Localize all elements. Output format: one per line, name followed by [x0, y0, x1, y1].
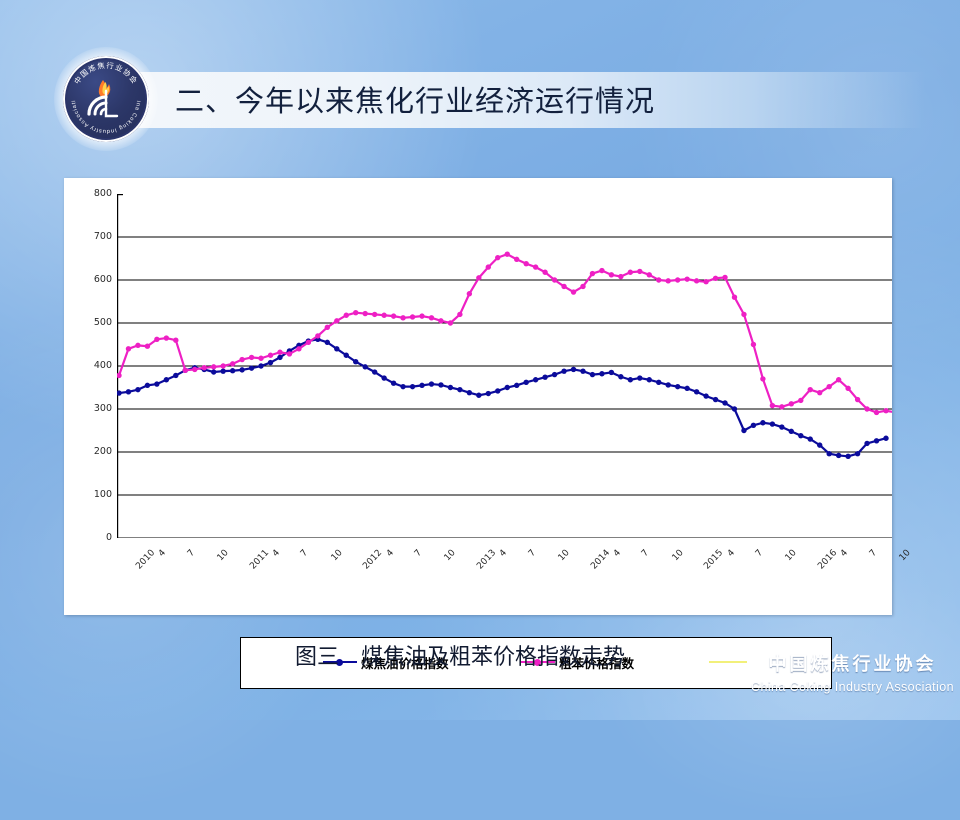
x-axis-tick-label: 2011 [248, 548, 271, 572]
data-point [192, 367, 197, 372]
data-point [391, 381, 396, 386]
data-point [495, 388, 500, 393]
data-point [154, 381, 159, 386]
data-point [438, 382, 443, 387]
data-point [400, 384, 405, 389]
chart-panel: 0100200300400500600700800 20104710201147… [64, 178, 892, 615]
x-axis-tick-label: 2013 [475, 548, 498, 572]
data-point [495, 255, 500, 260]
data-point [249, 355, 254, 360]
data-point [173, 373, 178, 378]
data-point [277, 355, 282, 360]
data-point [609, 370, 614, 375]
brand-name-cn: 中国炼焦行业协会 [745, 650, 960, 676]
y-axis-tick-label: 800 [78, 189, 112, 199]
data-point [808, 436, 813, 441]
x-axis-tick-label: 10 [784, 548, 799, 563]
data-point [505, 252, 510, 257]
data-point [580, 284, 585, 289]
series-line-0 [119, 339, 886, 456]
logo-disc: 中国炼焦行业协会 China Coking Industry Associati… [63, 56, 149, 142]
data-point [760, 420, 765, 425]
data-point [429, 381, 434, 386]
data-point [173, 338, 178, 343]
data-point [154, 337, 159, 342]
data-point [400, 315, 405, 320]
x-axis-tick-label: 4 [271, 548, 282, 559]
data-point [817, 390, 822, 395]
data-point [713, 276, 718, 281]
data-point [609, 272, 614, 277]
data-point [845, 386, 850, 391]
data-point [211, 364, 216, 369]
data-point [239, 357, 244, 362]
x-axis-tick-label: 2012 [362, 548, 385, 572]
data-point [457, 387, 462, 392]
x-axis-tick-label: 7 [299, 548, 310, 559]
data-point [164, 377, 169, 382]
data-point [770, 421, 775, 426]
data-point [230, 361, 235, 366]
data-point [722, 400, 727, 405]
data-point [703, 393, 708, 398]
data-point [637, 269, 642, 274]
data-point [467, 390, 472, 395]
data-point [391, 313, 396, 318]
data-point [362, 311, 367, 316]
data-point [239, 367, 244, 372]
data-point [353, 359, 358, 364]
data-point [883, 436, 888, 441]
chart-svg [117, 194, 892, 538]
data-point [590, 372, 595, 377]
data-point [457, 312, 462, 317]
data-point [514, 383, 519, 388]
data-point [618, 374, 623, 379]
data-point [694, 389, 699, 394]
x-axis-tick-label: 10 [216, 548, 231, 563]
data-point [258, 363, 263, 368]
x-axis-tick-label: 10 [443, 548, 458, 563]
y-axis-tick-label: 200 [78, 447, 112, 457]
y-axis-tick-label: 100 [78, 490, 112, 500]
data-point [751, 342, 756, 347]
data-point [590, 271, 595, 276]
data-point [637, 375, 642, 380]
x-axis-tick-label: 4 [839, 548, 850, 559]
data-point [542, 374, 547, 379]
y-axis-tick-label: 300 [78, 404, 112, 414]
data-point [675, 384, 680, 389]
data-point [362, 364, 367, 369]
data-point [684, 386, 689, 391]
x-axis-tick-label: 7 [754, 548, 765, 559]
data-point [599, 371, 604, 376]
x-axis-tick-label: 7 [527, 548, 538, 559]
data-point [722, 275, 727, 280]
data-point [306, 340, 311, 345]
data-point [571, 367, 576, 372]
footer-brand: 中国炼焦行业协会 China Coking Industry Associati… [745, 634, 960, 720]
data-point [514, 257, 519, 262]
data-point [883, 408, 888, 413]
data-point [410, 384, 415, 389]
data-point [779, 404, 784, 409]
data-point [798, 398, 803, 403]
data-point [296, 346, 301, 351]
data-point [372, 369, 377, 374]
data-point [476, 275, 481, 280]
data-point [533, 377, 538, 382]
data-point [741, 428, 746, 433]
data-point [344, 313, 349, 318]
data-point [808, 387, 813, 392]
data-point [580, 368, 585, 373]
x-axis-tick-label: 10 [670, 548, 685, 563]
data-point [381, 375, 386, 380]
data-point [561, 368, 566, 373]
data-point [836, 377, 841, 382]
data-point [164, 335, 169, 340]
data-point [277, 350, 282, 355]
data-point [230, 368, 235, 373]
x-axis-tick-label: 10 [557, 548, 572, 563]
y-axis-labels: 0100200300400500600700800 [72, 188, 112, 548]
y-axis-tick-label: 700 [78, 232, 112, 242]
data-point [117, 390, 122, 395]
data-point [467, 291, 472, 296]
data-point [372, 312, 377, 317]
y-axis-tick-label: 600 [78, 275, 112, 285]
data-point [836, 453, 841, 458]
data-point [135, 343, 140, 348]
x-axis-tick-label: 2010 [134, 548, 157, 572]
data-point [381, 313, 386, 318]
data-point [855, 451, 860, 456]
data-point [448, 385, 453, 390]
data-point [826, 451, 831, 456]
data-point [438, 318, 443, 323]
data-point [770, 403, 775, 408]
data-point [552, 277, 557, 282]
data-point [325, 340, 330, 345]
data-point [419, 313, 424, 318]
x-axis-tick-label: 7 [186, 548, 197, 559]
data-point [666, 278, 671, 283]
x-axis-tick-label: 7 [413, 548, 424, 559]
x-axis-tick-label: 4 [725, 548, 736, 559]
data-point [647, 272, 652, 277]
data-point [126, 346, 131, 351]
data-point [211, 369, 216, 374]
data-point [656, 277, 661, 282]
chart-plot-area [117, 194, 892, 538]
data-point [334, 318, 339, 323]
data-point [656, 380, 661, 385]
data-point [268, 360, 273, 365]
x-axis-tick-label: 2014 [589, 548, 612, 572]
data-point [779, 424, 784, 429]
data-point [826, 384, 831, 389]
data-point [220, 368, 225, 373]
x-axis-tick-label: 10 [329, 548, 344, 563]
data-point [874, 438, 879, 443]
data-point [410, 314, 415, 319]
association-logo: 中国炼焦行业协会 China Coking Industry Associati… [54, 47, 158, 151]
data-point [713, 397, 718, 402]
data-point [732, 406, 737, 411]
data-point [751, 423, 756, 428]
x-axis-tick-label: 4 [384, 548, 395, 559]
data-point [864, 406, 869, 411]
data-point [523, 380, 528, 385]
data-point [571, 289, 576, 294]
data-point [864, 441, 869, 446]
data-point [429, 315, 434, 320]
slide-canvas: 二、今年以来焦化行业经济运行情况 中国炼焦行业协会 China Coking I… [0, 0, 960, 720]
y-axis-tick-label: 0 [78, 533, 112, 543]
data-point [145, 383, 150, 388]
data-point [315, 333, 320, 338]
data-point [542, 270, 547, 275]
data-point [628, 270, 633, 275]
data-point [486, 264, 491, 269]
data-point [523, 261, 528, 266]
x-axis-tick-label: 4 [612, 548, 623, 559]
data-point [334, 346, 339, 351]
data-point [135, 387, 140, 392]
x-axis-tick-label: 10 [898, 548, 913, 563]
x-axis-tick-label: 7 [640, 548, 651, 559]
data-point [694, 278, 699, 283]
logo-flame-radar-icon [83, 76, 129, 122]
data-point [855, 397, 860, 402]
data-point [789, 429, 794, 434]
data-point [183, 368, 188, 373]
data-point [741, 312, 746, 317]
data-point [202, 365, 207, 370]
x-axis-labels: 2010471020114710201247102013471020144710… [117, 542, 907, 602]
data-point [448, 320, 453, 325]
y-axis-tick-label: 400 [78, 361, 112, 371]
data-point [561, 284, 566, 289]
data-point [419, 383, 424, 388]
data-point [220, 363, 225, 368]
data-point [344, 353, 349, 358]
data-point [533, 264, 538, 269]
data-point [628, 377, 633, 382]
data-point [675, 277, 680, 282]
data-point [287, 351, 292, 356]
data-point [684, 276, 689, 281]
y-axis-tick-label: 500 [78, 318, 112, 328]
data-point [666, 382, 671, 387]
data-point [732, 295, 737, 300]
x-axis-tick-label: 4 [498, 548, 509, 559]
figure-caption: 图三 煤焦油及粗苯价格指数走势 [160, 638, 760, 678]
data-point [505, 385, 510, 390]
data-point [647, 377, 652, 382]
data-point [476, 393, 481, 398]
data-point [552, 372, 557, 377]
data-point [268, 353, 273, 358]
data-point [126, 389, 131, 394]
data-point [618, 274, 623, 279]
data-point [249, 365, 254, 370]
data-point [599, 268, 604, 273]
x-axis-tick-label: 4 [157, 548, 168, 559]
data-point [874, 410, 879, 415]
x-axis-tick-label: 2015 [702, 548, 725, 572]
data-point [117, 373, 122, 378]
page-title: 二、今年以来焦化行业经济运行情况 [175, 76, 895, 126]
data-point [760, 376, 765, 381]
data-point [145, 344, 150, 349]
x-axis-tick-label: 7 [867, 548, 878, 559]
data-point [703, 279, 708, 284]
data-point [789, 401, 794, 406]
data-point [817, 442, 822, 447]
x-axis-tick-label: 2016 [816, 548, 839, 572]
brand-name-en: China Coking Industry Association [745, 680, 960, 694]
data-point [353, 310, 358, 315]
data-point [486, 391, 491, 396]
data-point [258, 356, 263, 361]
data-point [325, 325, 330, 330]
data-point [845, 454, 850, 459]
data-point [798, 433, 803, 438]
